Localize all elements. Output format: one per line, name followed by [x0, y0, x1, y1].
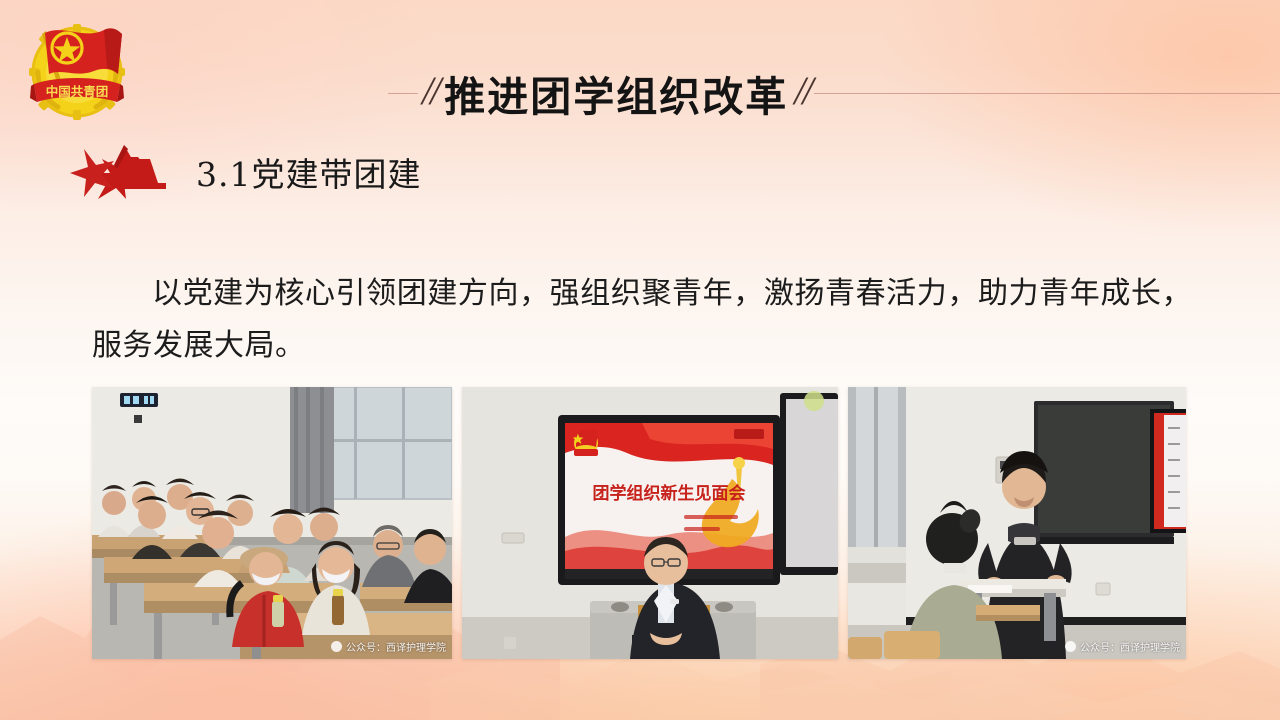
title-slash-left: //	[418, 67, 442, 114]
photo-gallery: 公众号：西译护理学院	[92, 387, 1186, 659]
section-heading-row: 3.1党建带团建	[62, 143, 421, 201]
section-heading: 3.1党建带团建	[196, 148, 421, 196]
title-rule-right	[814, 93, 1280, 94]
screen-title-text: 团学组织新生见面会	[593, 483, 746, 504]
photo-watermark: 公众号：西译护理学院	[1065, 639, 1180, 654]
photo-speaker-podium[interactable]: 团学组织新生见面会 西安翻译学院 XI'AN FANYI UNIVERSITY	[462, 387, 838, 659]
body-paragraph: 以党建为核心引领团建方向，强组织聚青年，激扬青春活力，助力青年成长，服务发展大局…	[92, 268, 1192, 371]
photo-watermark: 公众号：西译护理学院	[331, 639, 446, 654]
photo-teacher-lecture-image	[848, 387, 1186, 659]
slide-title-bar: // 推进团学组织改革 //	[0, 62, 1280, 124]
watermark-text: 公众号：西译护理学院	[1080, 639, 1180, 654]
watermark-logo-icon	[331, 641, 342, 652]
photo-classroom-audience[interactable]: 公众号：西译护理学院	[92, 387, 452, 659]
title-rule-left	[388, 93, 418, 94]
page-title: 推进团学组织改革	[442, 63, 790, 123]
photo-teacher-lecture[interactable]: 公众号：西译护理学院	[848, 387, 1186, 659]
watermark-text: 公众号：西译护理学院	[346, 639, 446, 654]
slide: 中国共青团 // 推进团学组织改革 // 3.1党建带团建 以党建为核心引领团建…	[0, 0, 1280, 720]
title-slash-right: //	[790, 67, 814, 114]
photo-speaker-podium-image: 团学组织新生见面会 西安翻译学院 XI'AN FANYI UNIVERSITY	[462, 387, 838, 659]
red-star-pagoda-icon	[62, 143, 174, 201]
photo-classroom-audience-image	[92, 387, 452, 659]
watermark-logo-icon	[1065, 641, 1076, 652]
